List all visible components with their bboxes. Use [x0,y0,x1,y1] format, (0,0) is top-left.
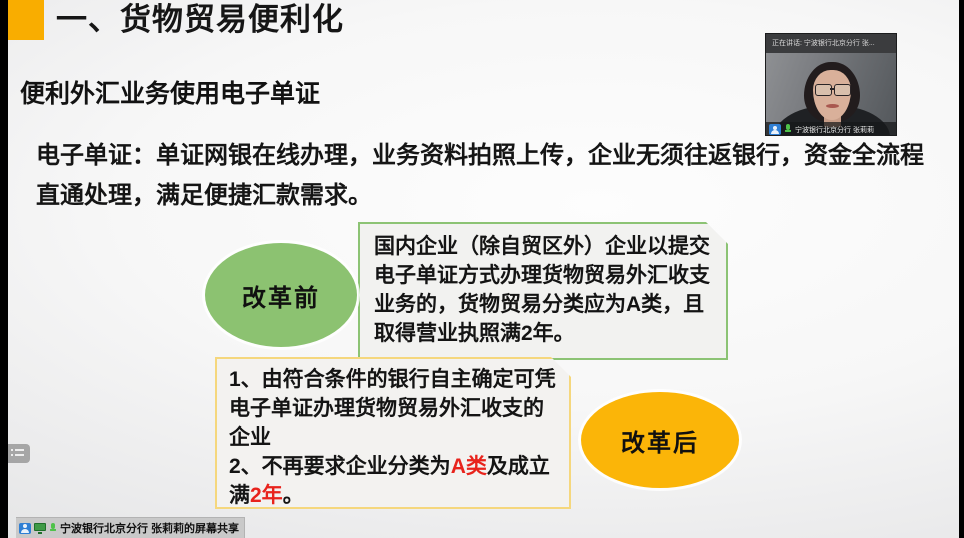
badge-after-reform: 改革后 [581,392,739,488]
video-person-glasses-right [834,84,851,96]
list-bullet-2 [11,454,13,456]
screen-share-icon [34,523,46,534]
page-title: 一、货物贸易便利化 [56,0,344,42]
speaker-nameplate: 宁波银行北京分行 张莉莉 [766,122,897,136]
badge-before-reform-label: 改革前 [242,278,320,313]
speaker-video-panel[interactable]: 正在讲话: 宁波银行北京分行 张... 宁波银行北京分行 张莉莉 [765,33,897,136]
video-person-glasses-left [815,84,832,96]
microphone-icon [49,523,57,534]
screen-share-status-label: 宁波银行北京分行 张莉莉的屏幕共享 [60,520,239,536]
callout-after-line-2-prefix: 2、不再要求企业分类为 [229,455,451,478]
highlight-a-class: A类 [451,455,487,478]
callout-after-line-1: 1、由符合条件的银行自主确定可凭电子单证办理货物贸易外汇收支的企业 [229,365,559,452]
slide-body-paragraph: 电子单证：单证网银在线办理，业务资料拍照上传，企业无须往返银行，资金全流程直通处… [36,136,926,216]
speaker-name-label: 宁波银行北京分行 张莉莉 [795,125,874,135]
active-speaker-label: 正在讲话: 宁波银行北京分行 张... [766,34,896,53]
callout-after-line-2: 2、不再要求企业分类为A类及成立满2年。 [229,452,559,510]
callout-before-text: 国内企业（除自贸区外）企业以提交电子单证方式办理货物贸易外汇收支业务的，货物贸易… [360,224,726,348]
callout-after-text: 1、由符合条件的银行自主确定可凭电子单证办理货物贸易外汇收支的企业 2、不再要求… [217,359,569,510]
list-bullet-1 [11,449,13,451]
screen-share-viewer: 一、货物贸易便利化 便利外汇业务使用电子单证 电子单证：单证网银在线办理，业务资… [0,0,964,538]
title-accent-swatch [8,0,44,40]
highlight-two-years: 2年 [250,484,283,507]
callout-after-reform: 1、由符合条件的银行自主确定可凭电子单证办理货物贸易外汇收支的企业 2、不再要求… [215,357,571,509]
slide-subtitle: 便利外汇业务使用电子单证 [20,74,320,110]
video-person-glasses-bridge [830,88,835,90]
list-line-1 [15,449,24,451]
badge-after-reform-label: 改革后 [621,423,699,458]
callout-before-reform: 国内企业（除自贸区外）企业以提交电子单证方式办理货物贸易外汇收支业务的，货物贸易… [358,222,728,360]
video-person-mouth [826,104,839,108]
screen-share-status-bar: 宁波银行北京分行 张莉莉的屏幕共享 [16,517,245,538]
list-panel-icon[interactable] [8,444,30,463]
speaker-video-feed: 宁波银行北京分行 张莉莉 [766,53,897,136]
badge-before-reform: 改革前 [205,243,357,347]
person-icon [19,523,31,534]
person-icon [769,124,781,135]
list-line-2 [15,454,24,456]
callout-after-line-2-suffix: 。 [283,484,304,507]
microphone-icon [784,124,792,135]
